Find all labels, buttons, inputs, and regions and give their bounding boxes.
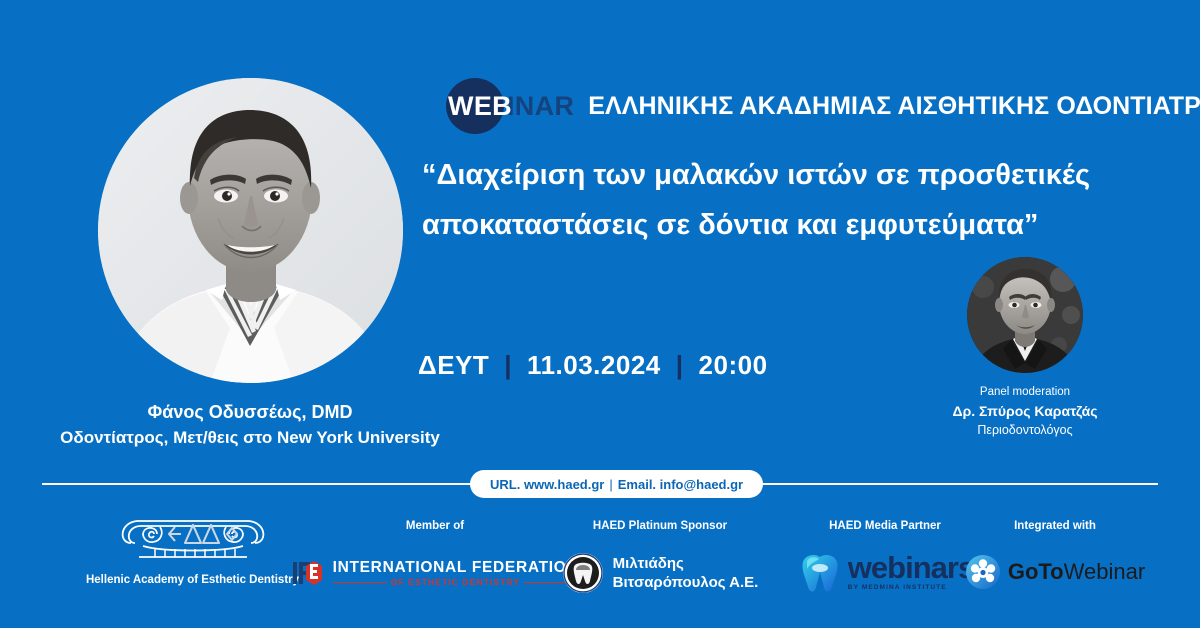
ifed-caption: Member of bbox=[310, 519, 560, 534]
webinar-header: WEB INAR ΕΛΛΗΝΙΚΗΣ ΑΚΑΔΗΜΙΑΣ ΑΙΣΘΗΤΙΚΗΣ … bbox=[446, 78, 1200, 134]
schedule-separator-1: | bbox=[504, 350, 512, 381]
sponsor-caption: HAED Platinum Sponsor bbox=[540, 519, 780, 534]
organization-name: ΕΛΛΗΝΙΚΗΣ ΑΚΑΔΗΜΙΑΣ ΑΙΣΘΗΤΙΚΗΣ ΟΔΟΝΤΙΑΤΡ… bbox=[588, 94, 1200, 119]
talk-title-line-1: “Διαχείριση των μαλακών ιστών σε προσθετ… bbox=[422, 150, 1062, 200]
badge-web-text: WEB bbox=[444, 93, 512, 120]
haed-name: Hellenic Academy of Esthetic Dentistry bbox=[60, 573, 325, 587]
platform-brand-bold: GoTo bbox=[1008, 559, 1064, 584]
speaker-photo bbox=[98, 78, 403, 383]
platform-caption: Integrated with bbox=[955, 519, 1155, 534]
footer: Hellenic Academy of Esthetic Dentistry M… bbox=[0, 505, 1200, 628]
speaker-role: Οδοντίατρος, Μετ/θεις στο New York Unive… bbox=[0, 425, 500, 450]
gotowebinar-flower-icon bbox=[965, 554, 1001, 590]
speaker-caption: Φάνος Οδυσσέως, DMD Οδοντίατρος, Μετ/θει… bbox=[0, 400, 500, 450]
ifed-subtitle: OF ESTHETIC DENTISTRY bbox=[391, 578, 521, 587]
moderator-photo bbox=[967, 257, 1083, 373]
moderator-role: Περιοδοντολόγος bbox=[915, 421, 1135, 440]
ifed-block: Member of INTERNATIONAL FEDERATION OF ES… bbox=[310, 519, 560, 590]
haed-logo-block: Hellenic Academy of Esthetic Dentistry bbox=[60, 513, 325, 587]
ifed-rule-left bbox=[333, 582, 387, 584]
schedule-date: 11.03.2024 bbox=[527, 350, 661, 381]
divider-left bbox=[42, 483, 472, 485]
badge-inar-text: INAR bbox=[507, 93, 574, 120]
schedule-row: ΔΕΥΤ | 11.03.2024 | 20:00 bbox=[418, 350, 768, 381]
sponsor-name-line-2: Βιτσαρόπουλος Α.Ε. bbox=[613, 573, 759, 592]
ifed-logo-icon bbox=[292, 556, 326, 590]
poster-canvas: WEB INAR ΕΛΛΗΝΙΚΗΣ ΑΚΑΔΗΜΙΑΣ ΑΙΣΘΗΤΙΚΗΣ … bbox=[0, 0, 1200, 628]
schedule-day: ΔΕΥΤ bbox=[418, 350, 489, 381]
tooth-icon bbox=[796, 550, 844, 596]
moderator-caption: Panel moderation Δρ. Σπύρος Καρατζάς Περ… bbox=[915, 383, 1135, 440]
contact-email[interactable]: Email. info@haed.gr bbox=[618, 477, 743, 492]
platform-brand-light: Webinar bbox=[1064, 559, 1146, 584]
webinar-badge: WEB bbox=[446, 78, 510, 134]
platform-block: Integrated with bbox=[955, 519, 1155, 590]
sponsor-block: HAED Platinum Sponsor Μιλτιάδης Βιτσαρόπ… bbox=[540, 519, 780, 594]
sponsor-logo-icon bbox=[562, 552, 604, 594]
moderator-label: Panel moderation bbox=[915, 383, 1135, 401]
speaker-name: Φάνος Οδυσσέως, DMD bbox=[0, 400, 500, 425]
contact-separator: | bbox=[609, 477, 612, 492]
contact-url[interactable]: URL. www.haed.gr bbox=[490, 477, 604, 492]
schedule-time: 20:00 bbox=[699, 350, 768, 381]
talk-title-line-2: αποκαταστάσεις σε δόντια και εμφυτεύματα… bbox=[422, 200, 1062, 250]
contact-pill[interactable]: URL. www.haed.gr | Email. info@haed.gr bbox=[470, 470, 763, 498]
moderator-name: Δρ. Σπύρος Καρατζάς bbox=[915, 401, 1135, 421]
haed-column-icon bbox=[113, 513, 273, 571]
schedule-separator-2: | bbox=[676, 350, 684, 381]
talk-title: “Διαχείριση των μαλακών ιστών σε προσθετ… bbox=[422, 150, 1062, 250]
gotowebinar-wordmark: GoToWebinar bbox=[1008, 561, 1145, 583]
divider-right bbox=[738, 483, 1158, 485]
sponsor-name-line-1: Μιλτιάδης bbox=[613, 554, 759, 573]
